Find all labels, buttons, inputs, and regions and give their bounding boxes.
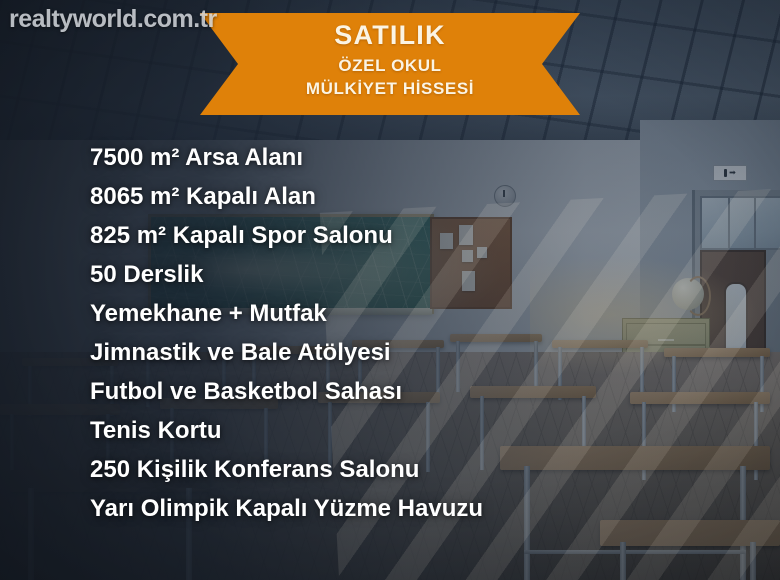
desk-leg (750, 542, 756, 580)
feature-item: 8065 m² Kapalı Alan (90, 177, 710, 216)
feature-item: Yarı Olimpik Kapalı Yüzme Havuzu (90, 489, 710, 528)
feature-item: Jimnastik ve Bale Atölyesi (90, 333, 710, 372)
feature-item: 7500 m² Arsa Alanı (90, 138, 710, 177)
window-mullion (754, 198, 756, 248)
feature-item: Tenis Kortu (90, 411, 710, 450)
feature-item: Futbol ve Basketbol Sahası (90, 372, 710, 411)
desk-leg (620, 542, 626, 580)
foreground-desk-right (600, 520, 780, 580)
feature-item: 250 Kişilik Konferans Salonu (90, 450, 710, 489)
exit-figure-icon (724, 169, 727, 177)
feature-item: Yemekhane + Mutfak (90, 294, 710, 333)
site-watermark: realtyworld.com.tr (9, 5, 217, 34)
banner-title: SATILIK (334, 21, 445, 51)
sale-ribbon-banner: SATILIK ÖZEL OKUL MÜLKİYET HİSSESİ (200, 13, 580, 115)
listing-poster: ➡ (0, 0, 780, 580)
exit-sign-icon: ➡ (713, 165, 747, 181)
transom-window (700, 196, 780, 250)
banner-subtitle-line-1: ÖZEL OKUL (338, 54, 441, 79)
arrow-right-icon: ➡ (729, 169, 736, 177)
feature-item: 50 Derslik (90, 255, 710, 294)
property-features-list: 7500 m² Arsa Alanı 8065 m² Kapalı Alan 8… (90, 138, 710, 528)
desk-leg (28, 488, 34, 580)
banner-subtitle-line-2: MÜLKİYET HİSSESİ (306, 78, 474, 101)
window-mullion (728, 198, 730, 248)
feature-item: 825 m² Kapalı Spor Salonu (90, 216, 710, 255)
